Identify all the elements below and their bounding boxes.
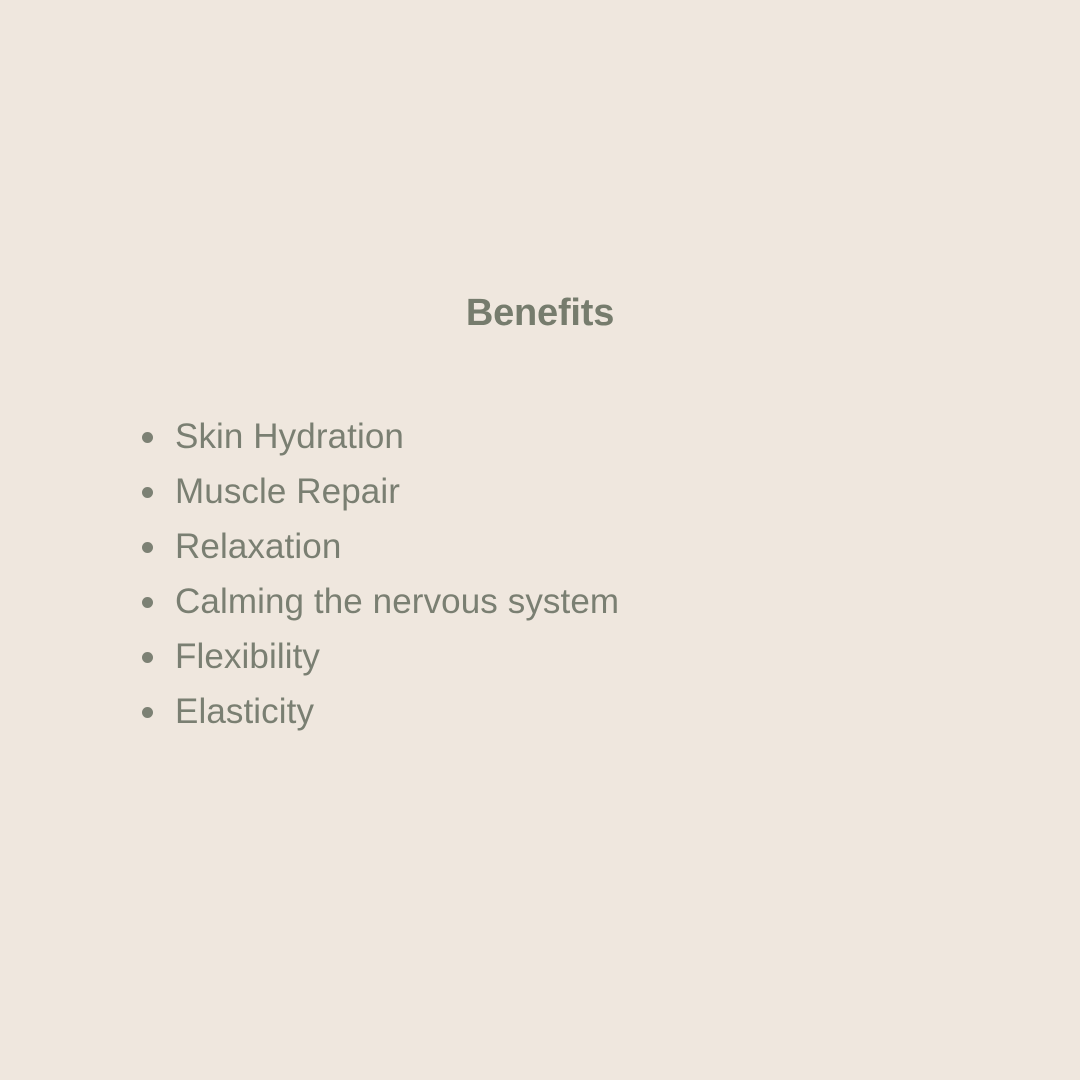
list-item-label: Flexibility [175,639,320,674]
list-item: Calming the nervous system [140,574,619,629]
list-item: Muscle Repair [140,464,619,519]
bullet-icon [142,487,153,498]
page-title: Benefits [0,294,1080,332]
bullet-icon [142,707,153,718]
benefits-list: Skin Hydration Muscle Repair Relaxation … [140,409,619,739]
bullet-icon [142,652,153,663]
list-item: Skin Hydration [140,409,619,464]
list-item-label: Muscle Repair [175,474,400,509]
list-item: Relaxation [140,519,619,574]
bullet-icon [142,597,153,608]
list-item-label: Elasticity [175,694,314,729]
list-item-label: Skin Hydration [175,419,404,454]
benefits-slide: Benefits Skin Hydration Muscle Repair Re… [0,0,1080,1080]
list-item-label: Calming the nervous system [175,584,619,619]
list-item-label: Relaxation [175,529,341,564]
list-item: Flexibility [140,629,619,684]
list-item: Elasticity [140,684,619,739]
bullet-icon [142,432,153,443]
bullet-icon [142,542,153,553]
